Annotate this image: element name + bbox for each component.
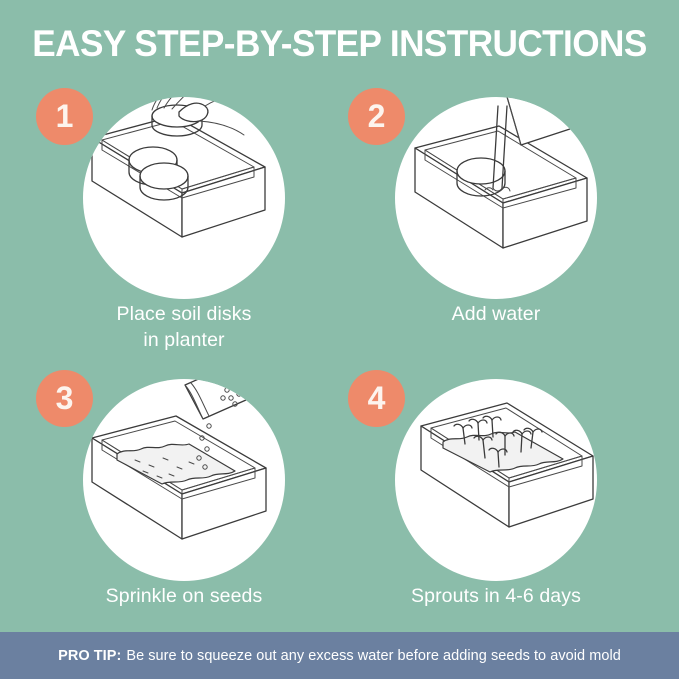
- step-card-4: 4 Sprouts in 4-6 days: [340, 370, 652, 632]
- step-badge-4: 4: [348, 370, 405, 427]
- step-badge-2: 2: [348, 88, 405, 145]
- step-badge-1: 1: [36, 88, 93, 145]
- pro-tip-text: Be sure to squeeze out any excess water …: [126, 648, 621, 664]
- step-caption-1: Place soil disks in planter: [28, 301, 340, 353]
- step-caption-2-line1: Add water: [452, 303, 541, 325]
- step-caption-2: Add water: [340, 301, 652, 327]
- steps-grid: 1 Place soil disks in planter: [0, 88, 679, 618]
- step-caption-4: Sprouts in 4-6 days: [340, 583, 652, 609]
- step-card-1: 1 Place soil disks in planter: [28, 88, 340, 350]
- step-card-3: 3 Sprinkle on seeds: [28, 370, 340, 632]
- infographic-root: EASY STEP-BY-STEP INSTRUCTIONS: [0, 0, 679, 679]
- step-caption-3-line1: Sprinkle on seeds: [106, 585, 263, 607]
- step-caption-4-line1: Sprouts in 4-6 days: [411, 585, 581, 607]
- step-caption-3: Sprinkle on seeds: [28, 583, 340, 609]
- step-1-artwork: [69, 88, 299, 303]
- step-4-artwork: [381, 370, 611, 585]
- step-2-artwork: [381, 88, 611, 303]
- step-caption-1-line2: in planter: [28, 327, 340, 353]
- pro-tip-bar: PRO TIP: Be sure to squeeze out any exce…: [0, 632, 679, 679]
- step-badge-3: 3: [36, 370, 93, 427]
- step-3-artwork: [69, 370, 299, 585]
- page-title: EASY STEP-BY-STEP INSTRUCTIONS: [17, 22, 662, 66]
- step-caption-1-line1: Place soil disks: [117, 303, 252, 325]
- pro-tip-label: PRO TIP:: [58, 648, 121, 664]
- step-card-2: 2 Add water: [340, 88, 652, 350]
